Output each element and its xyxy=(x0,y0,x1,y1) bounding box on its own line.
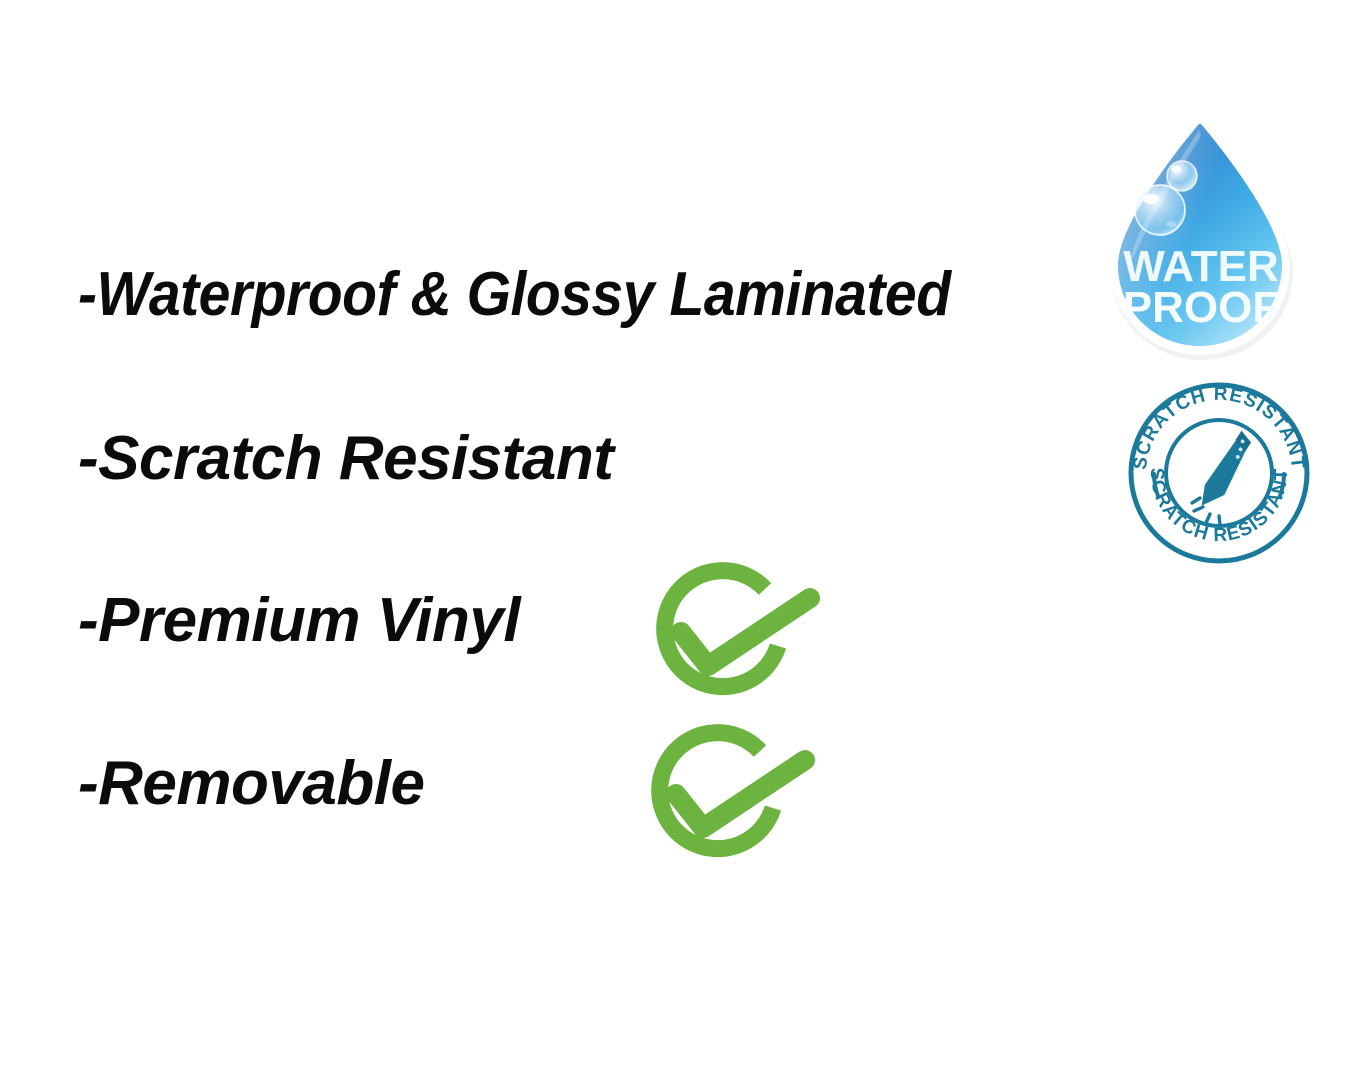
feature-item-waterproof-glossy-laminated: -Waterproof & Glossy Laminated xyxy=(78,264,951,326)
bubble-large-icon xyxy=(1135,185,1185,235)
feature-item-removable: -Removable xyxy=(78,753,424,815)
product-feature-graphic: -Waterproof & Glossy Laminated -Scratch … xyxy=(0,0,1359,1080)
check-mark xyxy=(676,760,805,828)
badge-top-text: SCRATCH RESISTANT xyxy=(1130,384,1308,471)
waterproof-line2: PROOF xyxy=(1123,283,1279,332)
feature-item-scratch-resistant: -Scratch Resistant xyxy=(78,428,613,490)
feature-item-premium-vinyl: -Premium Vinyl xyxy=(78,590,520,652)
green-check-circle-removable xyxy=(633,718,823,878)
check-mark xyxy=(681,598,810,666)
feature-list: -Waterproof & Glossy Laminated -Scratch … xyxy=(0,0,1100,1080)
bubble-small-icon xyxy=(1167,161,1197,191)
scratch-resistant-badge: SCRATCH RESISTANT SCRATCH RESISTANT xyxy=(1124,378,1314,568)
green-check-circle-premium-vinyl xyxy=(638,556,828,716)
knife-icon xyxy=(1195,427,1254,512)
waterproof-badge: WATER PROOF xyxy=(1097,108,1307,366)
